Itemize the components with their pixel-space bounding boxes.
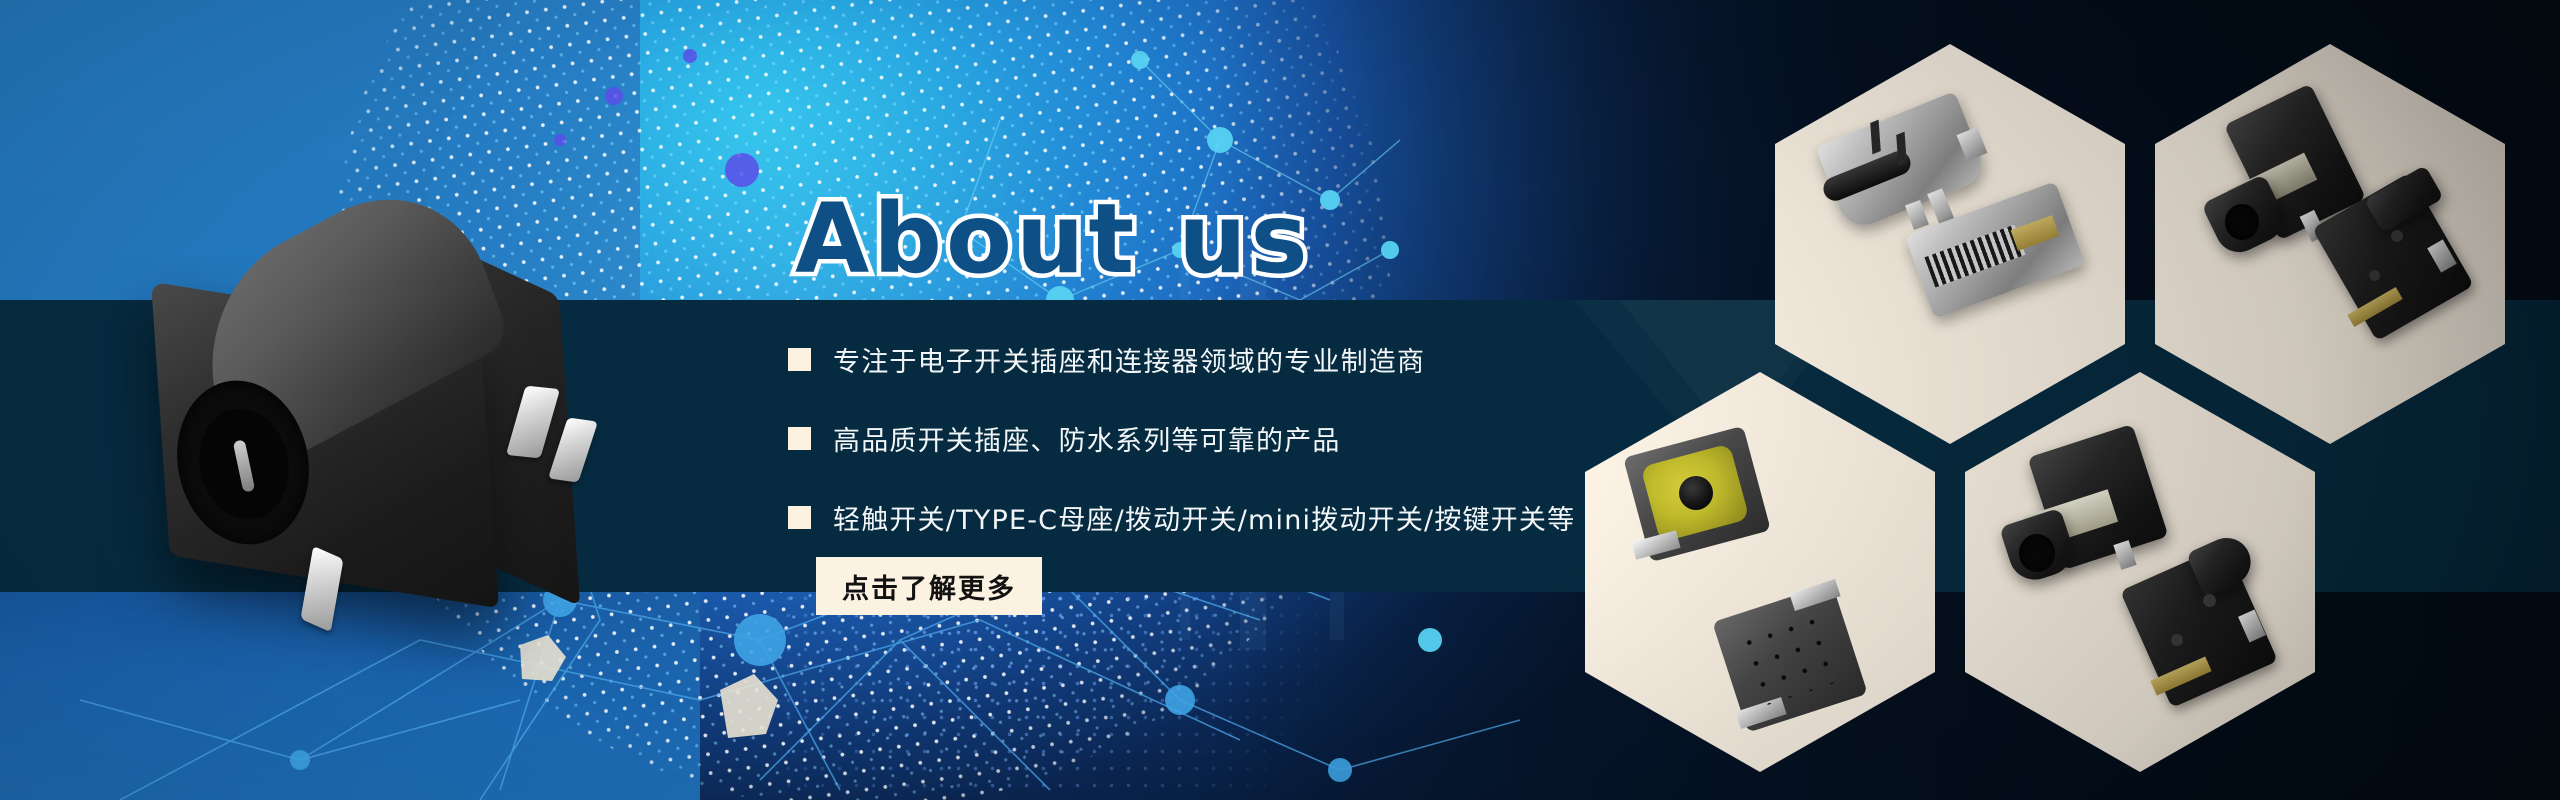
tact-switch-actuator [1679,476,1713,510]
title-word-us: us [1178,183,1311,295]
product-hex-tactile-switch[interactable] [1585,372,1935,772]
title-word-about: About [795,183,1138,295]
square-bullet-icon [788,427,811,450]
product-hex-phone-jack[interactable] [1965,372,2315,772]
square-bullet-icon [788,506,811,529]
pjack-dimple [2203,594,2216,607]
square-bullet-icon [788,348,811,371]
jack-dimple [2391,230,2403,242]
product-hex-usb-type-c[interactable] [1775,44,2125,444]
learn-more-button[interactable]: 点击了解更多 [816,557,1042,615]
product-hex-audio-jack[interactable] [2155,44,2505,444]
pjack-hole [2019,534,2055,572]
list-item-label: 轻触开关/TYPE-C母座/拨动开关/mini拨动开关/按键开关等 [833,498,1575,537]
jack-dimple [2369,270,2380,281]
jack-hole [2225,204,2259,240]
product-hexagon-group [1560,0,2560,800]
list-item-label: 专注于电子开关插座和连接器领域的专业制造商 [833,340,1425,379]
typec-solder-leg [1905,200,1929,230]
about-us-banner: Aboutus 专注于电子开关插座和连接器领域的专业制造商 高品质开关插座、防水… [0,0,2560,800]
pjack-dimple [2171,634,2183,646]
list-item-label: 高品质开关插座、防水系列等可靠的产品 [833,419,1341,458]
page-title: Aboutus [795,183,1312,295]
hero-product-image-dc-power-jack [120,140,720,680]
